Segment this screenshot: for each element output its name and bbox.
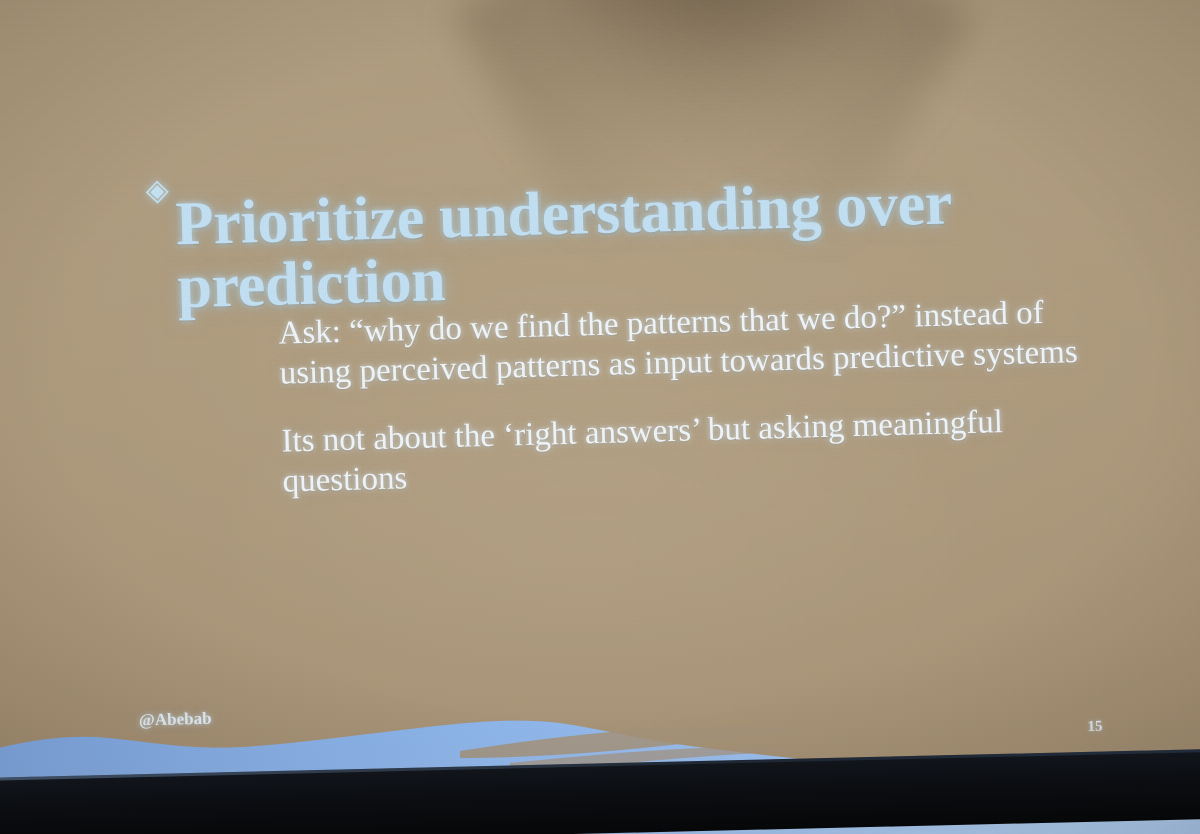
slide-body-block: Ask: “why do we find the patterns that w… [278,292,1114,531]
body-paragraph-2: Its not about the ‘right answers’ but as… [281,400,1113,502]
photographed-presentation-slide: ◈ Prioritize understanding over predicti… [0,0,1200,834]
slide-content: ◈ Prioritize understanding over predicti… [0,0,1200,834]
diamond-bullet-icon: ◈ [145,176,169,207]
